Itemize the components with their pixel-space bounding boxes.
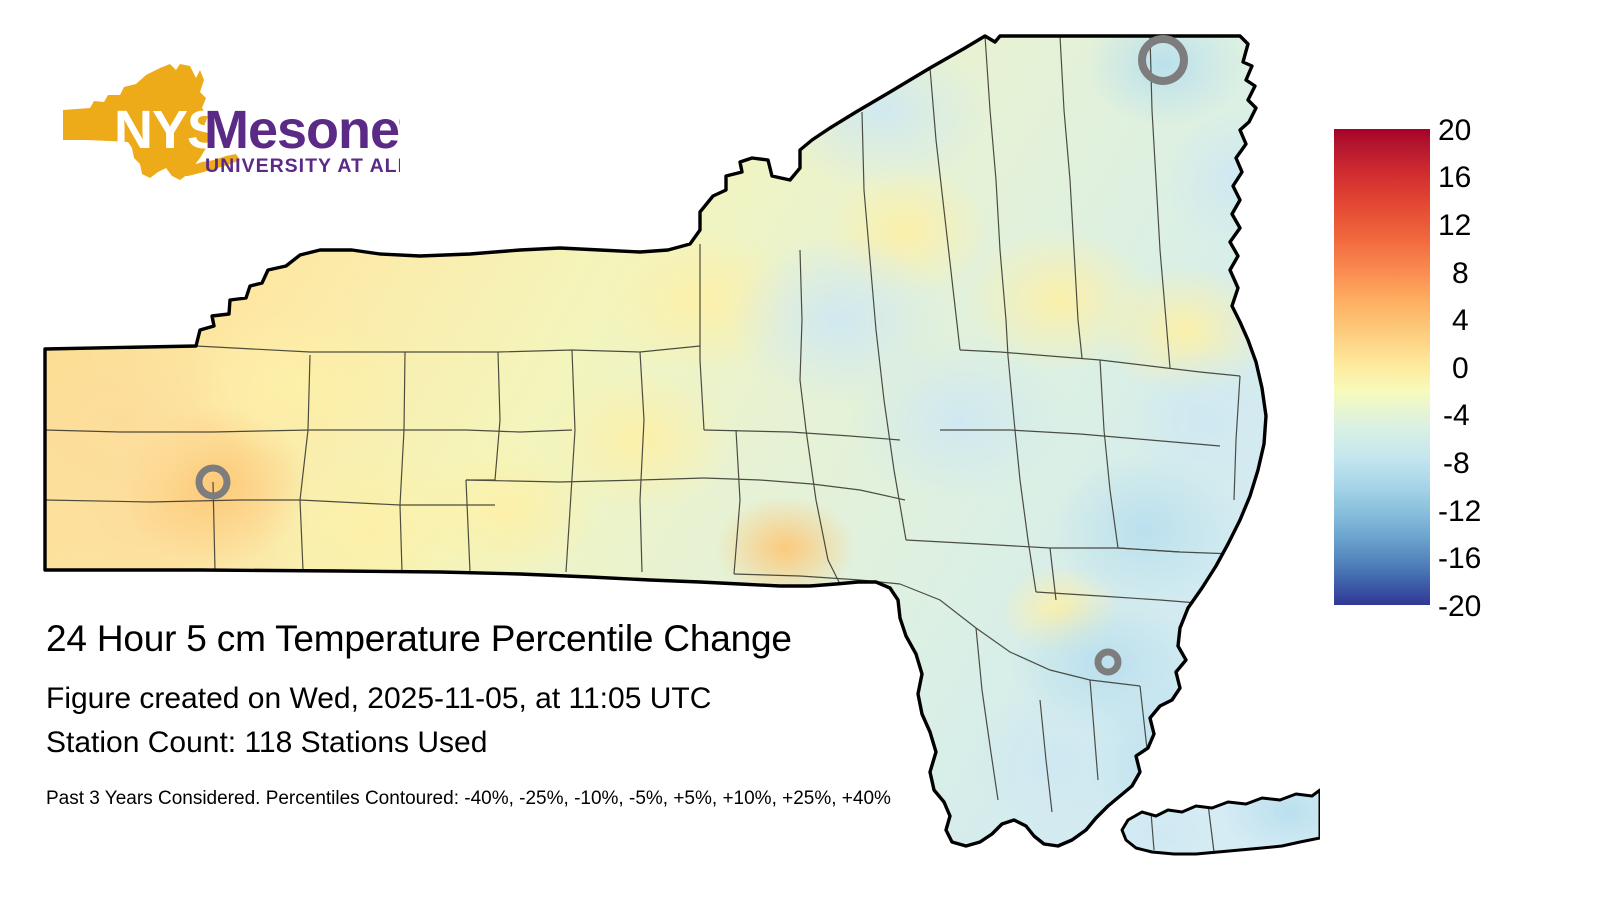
station-count-text: Station Count: 118 Stations Used	[46, 726, 1166, 759]
colorbar-tick-12: 12	[1438, 211, 1471, 241]
colorbar-tick-16: 16	[1438, 163, 1471, 193]
colorbar-tick-20: 20	[1438, 116, 1471, 146]
nys-mesonet-logo-svg: NYS Mesonet UNIVERSITY AT ALBANY	[50, 62, 400, 182]
colorbar-tick-neg8: -8	[1443, 449, 1470, 479]
colorbar	[1334, 129, 1430, 605]
colorbar-tick-neg20: -20	[1438, 592, 1481, 622]
colorbar-tick-neg12: -12	[1438, 497, 1481, 527]
colorbar-tick-0: 0	[1452, 354, 1469, 384]
colorbar-tick-4: 4	[1452, 306, 1469, 336]
caption-block: 24 Hour 5 cm Temperature Percentile Chan…	[46, 620, 1166, 810]
colorbar-gradient	[1334, 129, 1430, 605]
colorbar-tick-neg16: -16	[1438, 544, 1481, 574]
logo-mesonet-text: Mesonet	[204, 100, 400, 160]
figure-root: NYS Mesonet UNIVERSITY AT ALBANY 20 16 1…	[0, 0, 1600, 900]
colorbar-tick-labels: 20 16 12 8 4 0 -4 -8 -12 -16 -20	[1438, 100, 1528, 640]
colorbar-tick-neg4: -4	[1443, 401, 1470, 431]
logo-subtitle-text: UNIVERSITY AT ALBANY	[205, 155, 400, 177]
figure-created-text: Figure created on Wed, 2025-11-05, at 11…	[46, 682, 1166, 715]
colorbar-tick-8: 8	[1452, 259, 1469, 289]
figure-title: 24 Hour 5 cm Temperature Percentile Chan…	[46, 620, 1166, 659]
nys-mesonet-logo: NYS Mesonet UNIVERSITY AT ALBANY	[50, 62, 400, 182]
contour-note-text: Past 3 Years Considered. Percentiles Con…	[46, 789, 1166, 810]
